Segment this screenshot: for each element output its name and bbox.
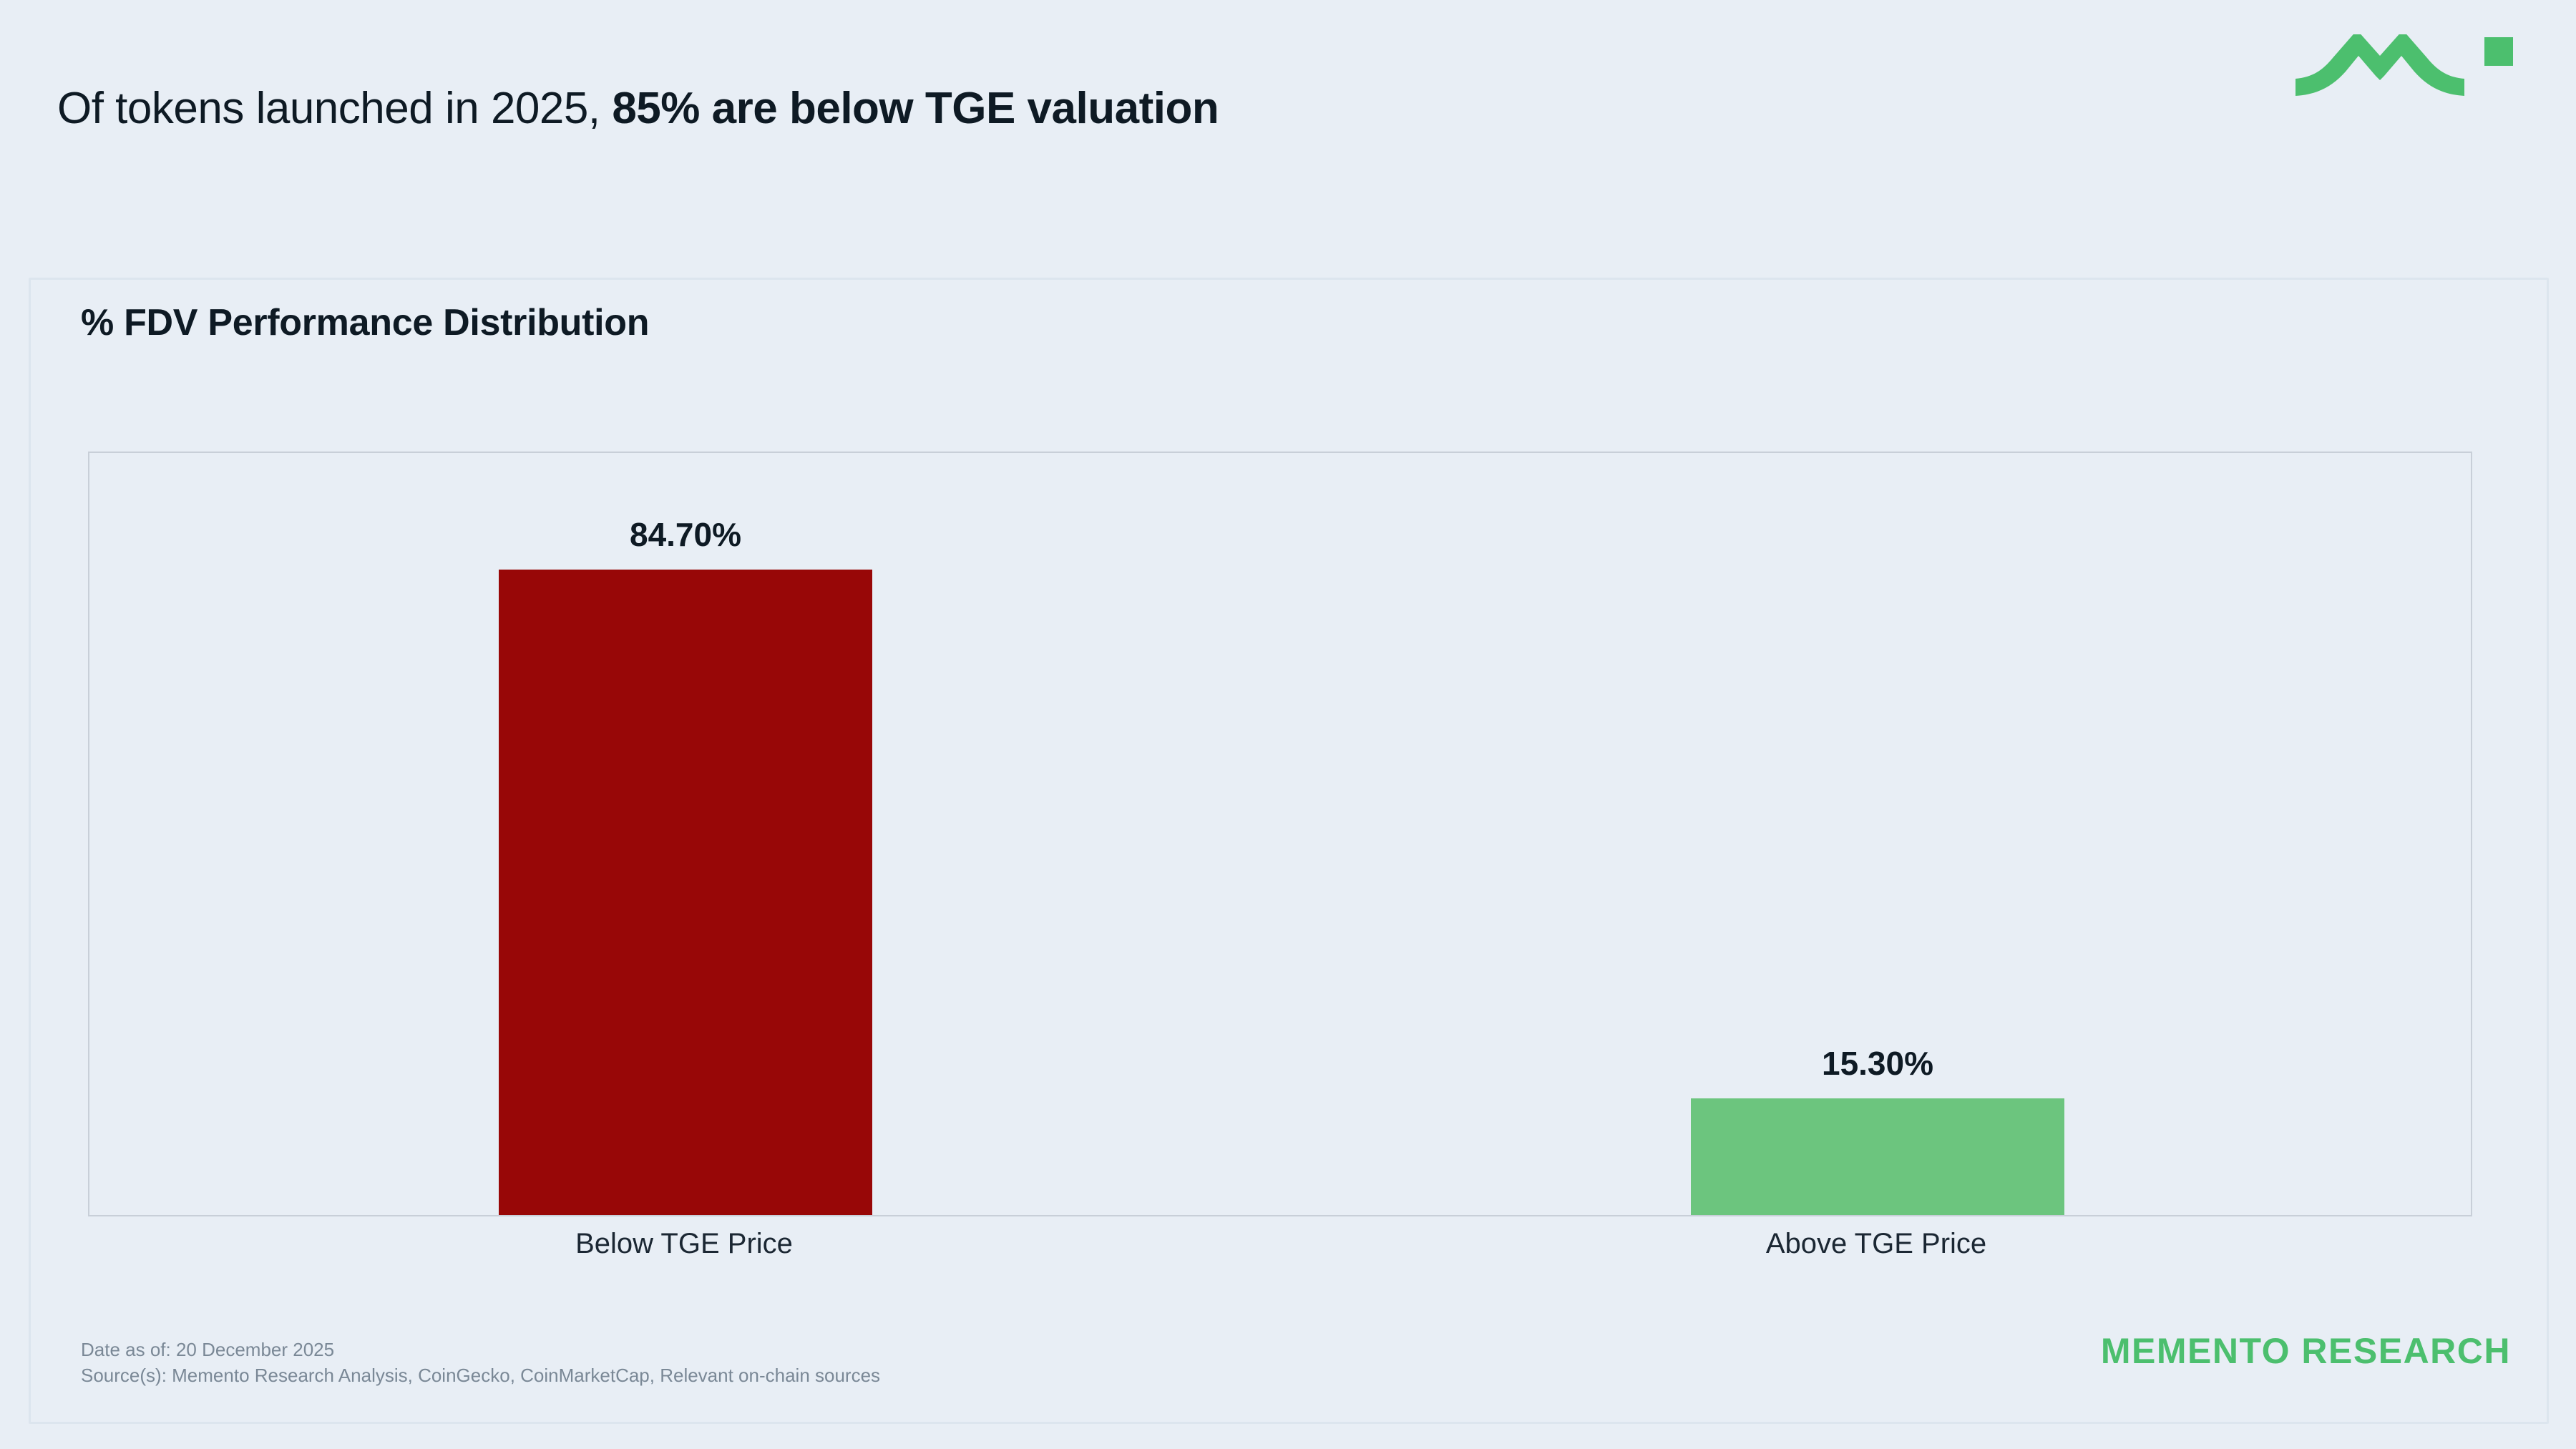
chart-plot-area: 84.70% 15.30% xyxy=(88,452,2472,1216)
chart-title: % FDV Performance Distribution xyxy=(81,301,649,344)
bar-value-label: 15.30% xyxy=(1691,1044,2064,1083)
sources-line: Source(s): Memento Research Analysis, Co… xyxy=(81,1363,880,1389)
x-axis-label-below-tge: Below TGE Price xyxy=(497,1228,871,1260)
slide-canvas: Of tokens launched in 2025, 85% are belo… xyxy=(0,0,2576,1449)
memento-m-wave-logo-icon xyxy=(2290,34,2519,120)
chart-footnotes: Date as of: 20 December 2025 Source(s): … xyxy=(81,1337,880,1389)
x-axis-label-above-tge: Above TGE Price xyxy=(1689,1228,2063,1260)
date-as-of-line: Date as of: 20 December 2025 xyxy=(81,1337,880,1363)
bar-rect-above-tge[interactable] xyxy=(1691,1098,2064,1215)
chart-card: % FDV Performance Distribution 84.70% 15… xyxy=(29,278,2549,1424)
page-title-normal: Of tokens launched in 2025, xyxy=(57,84,612,133)
page-title-bold: 85% are below TGE valuation xyxy=(612,84,1219,133)
bar-value-label: 84.70% xyxy=(499,515,872,554)
bar-rect-below-tge[interactable] xyxy=(499,570,872,1215)
footer-brand-wordmark: MEMENTO RESEARCH xyxy=(2101,1330,2511,1372)
page-title: Of tokens launched in 2025, 85% are belo… xyxy=(57,84,1219,133)
